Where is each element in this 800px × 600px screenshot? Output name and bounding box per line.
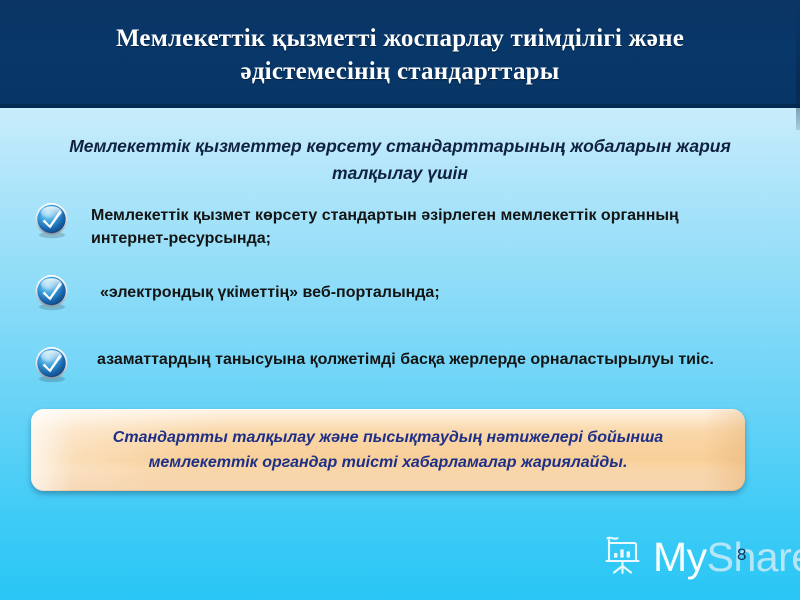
callout-line-2: мемлекеттік органдар тиісті хабарламалар… — [149, 450, 628, 475]
list-item: азаматтардың танысуына қолжетімді басқа … — [34, 344, 734, 384]
page-title: Мемлекеттік қызметті жоспарлау тиімділіг… — [60, 22, 740, 88]
callout-text: Стандартты талқылау және пысықтаудың нәт… — [31, 409, 745, 491]
slide-number: 8 — [737, 545, 746, 565]
watermark-my: My — [653, 534, 707, 580]
presentation-slide: Мемлекеттік қызметті жоспарлау тиімділіг… — [0, 0, 800, 600]
list-item-label: Мемлекеттік қызмет көрсету стандартын әз… — [91, 204, 734, 250]
slide-subtitle: Мемлекеттік қызметтер көрсету стандартта… — [55, 133, 745, 187]
check-circle-icon — [34, 346, 72, 384]
myshared-watermark: MyShared — [602, 534, 800, 581]
list-item: «электрондық үкіметтің» веб-порталында; — [34, 272, 734, 312]
watermark-shared: Shared — [707, 534, 800, 580]
header-right-edge-shadow — [796, 0, 800, 130]
callout-line-1: Стандартты талқылау және пысықтаудың нәт… — [113, 425, 663, 450]
highlight-callout-box: Стандартты талқылау және пысықтаудың нәт… — [31, 409, 745, 491]
check-circle-icon — [34, 202, 72, 240]
list-item-label: азаматтардың танысуына қолжетімді басқа … — [97, 348, 714, 371]
list-item: Мемлекеттік қызмет көрсету стандартын әз… — [34, 200, 734, 250]
list-item-label: «электрондық үкіметтің» веб-порталында; — [100, 281, 440, 304]
presentation-board-chart-icon — [602, 534, 646, 581]
check-circle-icon — [34, 274, 72, 312]
watermark-label: MyShared — [653, 537, 800, 578]
